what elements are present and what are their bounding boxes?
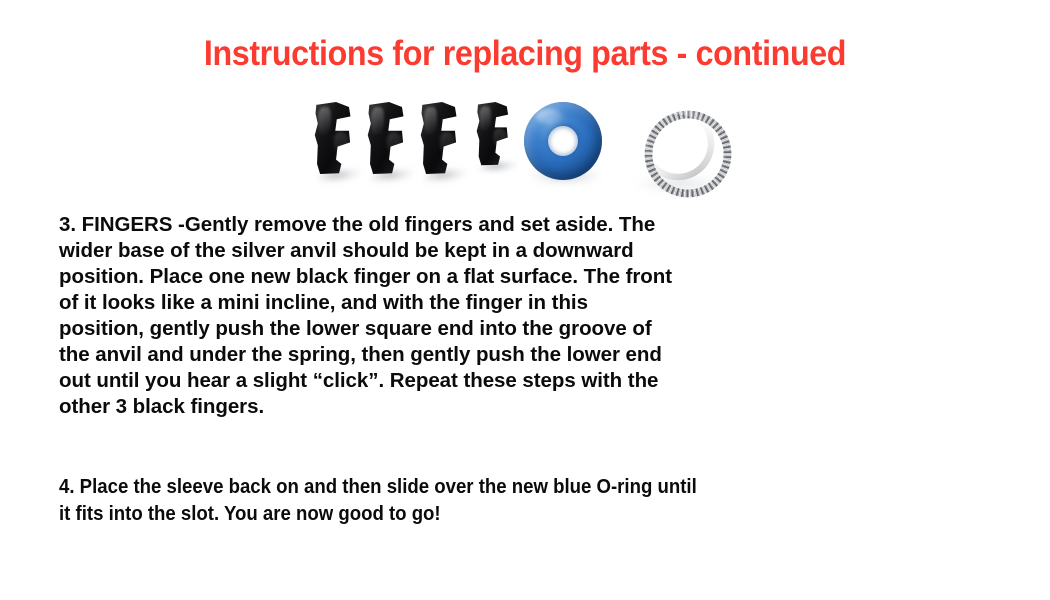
finger-3-highlight-secondary	[440, 132, 454, 154]
black-finger-4	[476, 102, 511, 167]
instruction-step-three: 3. FINGERS -Gently remove the old finger…	[59, 212, 1009, 420]
o-ring-gloss	[536, 109, 562, 124]
finger-3-highlight	[424, 107, 437, 135]
finger-1-highlight-secondary	[334, 132, 348, 154]
finger-4-highlight-secondary	[494, 128, 506, 147]
parts-photo	[300, 84, 765, 202]
black-finger-3	[420, 102, 460, 176]
spring-coil-ring	[626, 94, 750, 214]
instruction-step-four: 4. Place the sleeve back on and then sli…	[59, 474, 952, 528]
blue-o-ring	[524, 102, 602, 180]
finger-2-highlight	[371, 107, 384, 135]
finger-2-highlight-secondary	[387, 132, 401, 154]
silver-coil-spring	[620, 90, 740, 196]
black-finger-1	[314, 102, 354, 176]
finger-4-highlight	[480, 106, 491, 131]
slide-canvas: Instructions for replacing parts - conti…	[0, 0, 1050, 600]
page-title: Instructions for replacing parts - conti…	[42, 33, 1008, 75]
finger-1-highlight	[318, 107, 331, 135]
o-ring-hole	[548, 126, 578, 156]
black-finger-2	[367, 102, 407, 176]
